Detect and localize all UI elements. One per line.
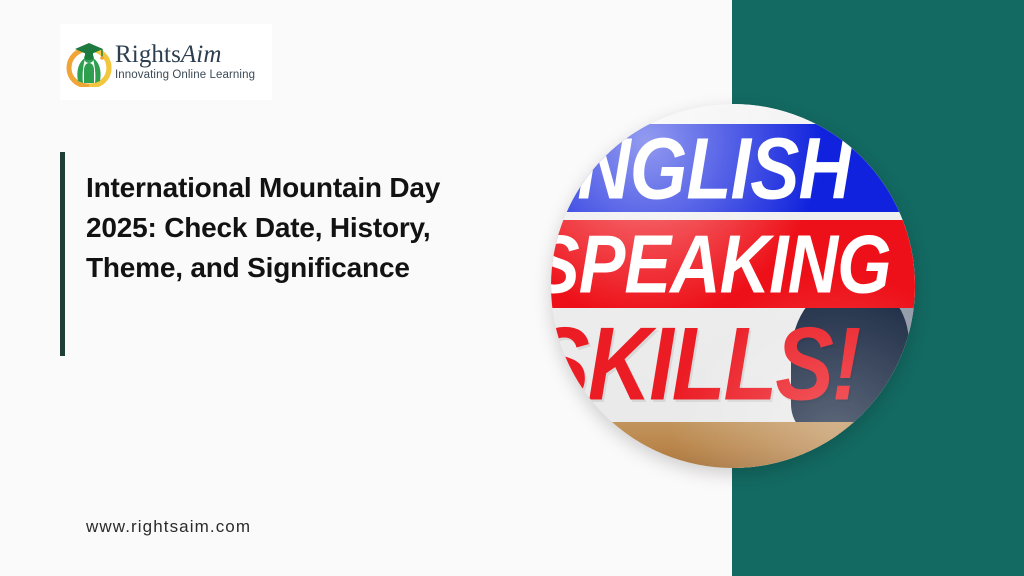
photo-text-line-1: ENGLISH (551, 124, 915, 212)
english-speaking-skills-thumbnail: ENGLISH SPEAKING SKILLS! (551, 104, 915, 468)
website-url[interactable]: www.rightsaim.com (86, 517, 251, 537)
photo-text-line-2-label: SPEAKING (551, 217, 891, 311)
graduation-cap-person-icon (66, 37, 112, 87)
promo-banner: RightsAim Innovating Online Learning Int… (0, 0, 1024, 576)
brand-name-italic: Aim (181, 41, 222, 68)
brand-logo[interactable]: RightsAim Innovating Online Learning (60, 24, 272, 100)
photo-text-line-3-label: SKILLS! (551, 304, 859, 424)
brand-tagline: Innovating Online Learning (115, 70, 255, 82)
page-title: International Mountain Day 2025: Check D… (86, 168, 516, 287)
headline-accent-bar (60, 152, 65, 356)
desk-surface (551, 422, 915, 468)
photo-background: ENGLISH SPEAKING SKILLS! (551, 104, 915, 468)
brand-name: RightsAim (115, 42, 255, 67)
photo-text-line-2: SPEAKING (551, 220, 915, 308)
brand-name-regular: Rights (115, 41, 181, 68)
brand-wordmark: RightsAim Innovating Online Learning (115, 42, 255, 82)
photo-text-line-3: SKILLS! (551, 316, 915, 412)
photo-text-line-1-label: ENGLISH (551, 118, 851, 218)
